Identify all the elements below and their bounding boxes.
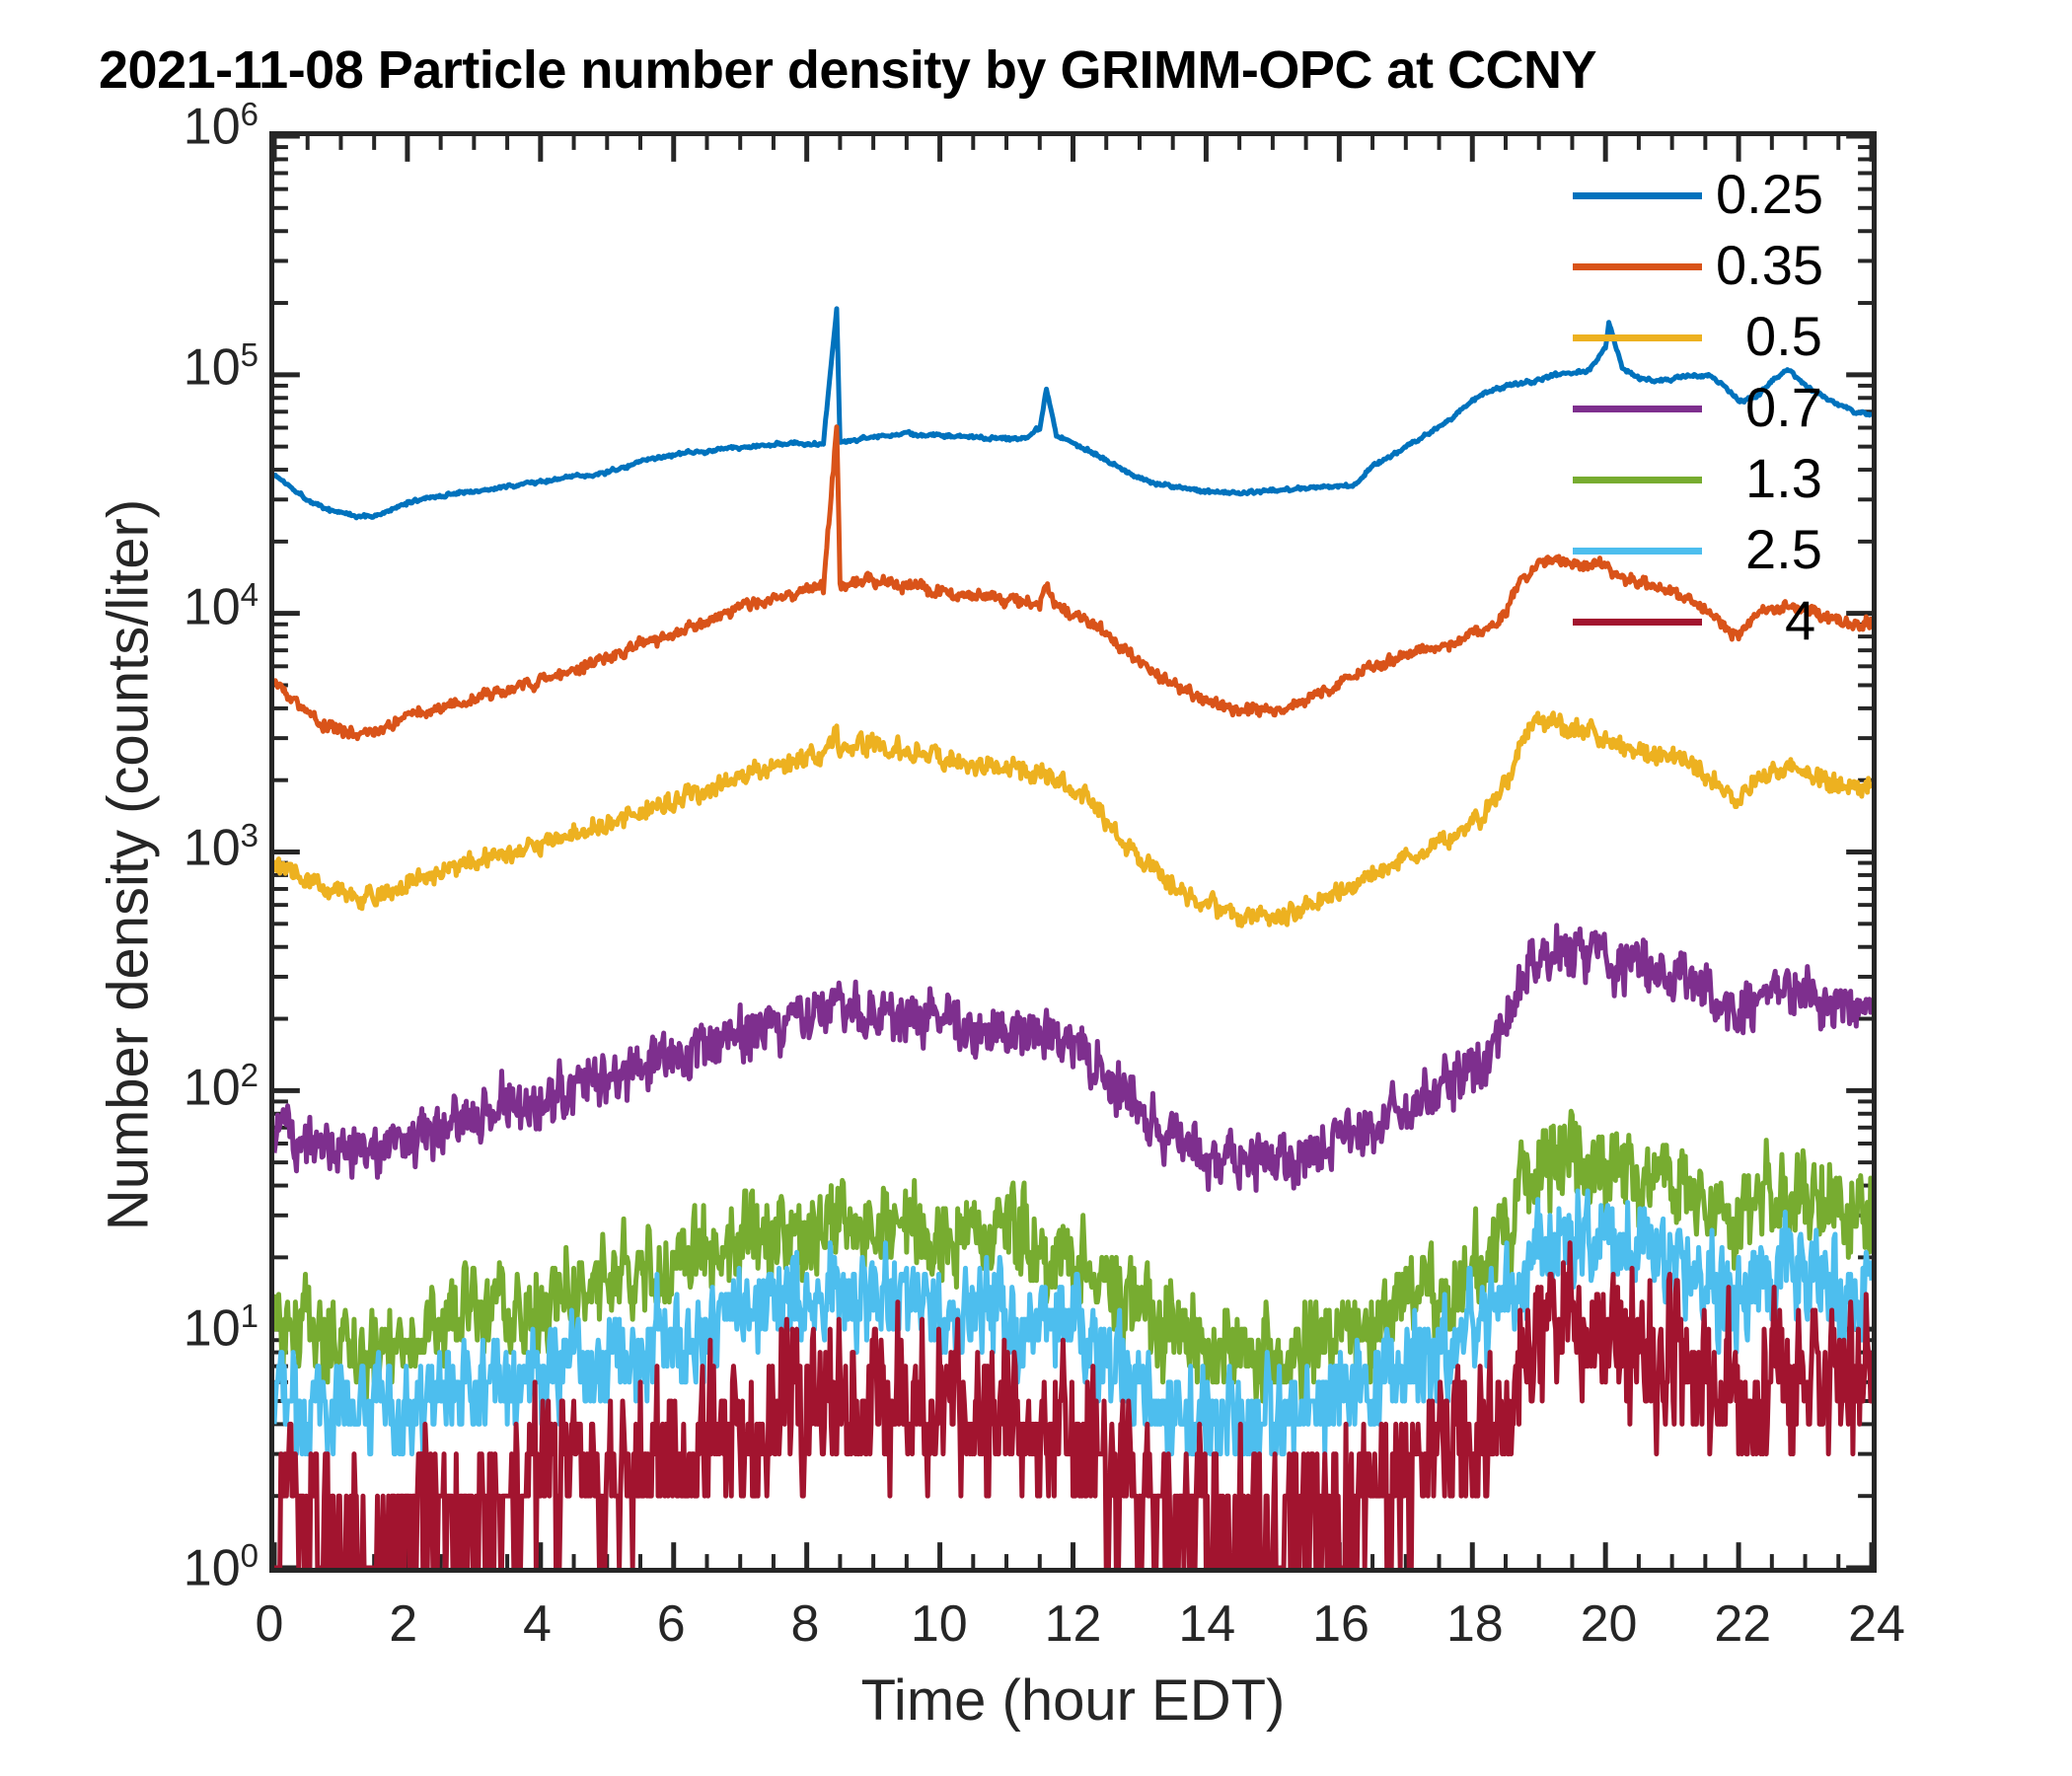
legend-label: 4: [1785, 585, 1815, 656]
x-axis-title: Time (hour EDT): [269, 1667, 1877, 1734]
legend-label: 1.3: [1745, 443, 1822, 514]
legend-item[interactable]: 0.5: [1573, 301, 1898, 372]
y-axis-title: Number density (counts/liter): [96, 372, 162, 1359]
x-tick-label: 16: [1282, 1594, 1400, 1654]
x-tick-label: 2: [344, 1594, 463, 1654]
legend-color-swatch: [1573, 548, 1702, 555]
legend-item[interactable]: 4: [1573, 585, 1898, 656]
y-tick-label: 100: [184, 1537, 259, 1597]
legend-item[interactable]: 1.3: [1573, 443, 1898, 514]
x-tick-label: 0: [210, 1594, 329, 1654]
legend-label: 2.5: [1745, 514, 1822, 585]
x-tick-label: 14: [1147, 1594, 1266, 1654]
legend-label: 0.35: [1716, 230, 1823, 301]
legend-color-swatch: [1573, 406, 1702, 412]
y-tick-label: 106: [184, 96, 259, 156]
legend-item[interactable]: 0.7: [1573, 372, 1898, 443]
legend-color-swatch: [1573, 192, 1702, 199]
legend-color-swatch: [1573, 619, 1702, 626]
legend-item[interactable]: 0.25: [1573, 159, 1898, 230]
chart-page: 2021-11-08 Particle number density by GR…: [0, 0, 2072, 1776]
legend-label: 0.7: [1745, 372, 1822, 443]
y-tick-label: 103: [184, 817, 259, 877]
x-tick-label: 8: [746, 1594, 864, 1654]
x-tick-label: 12: [1014, 1594, 1133, 1654]
x-tick-label: 22: [1683, 1594, 1802, 1654]
y-tick-label: 104: [184, 576, 259, 636]
y-tick-label: 101: [184, 1297, 259, 1358]
x-tick-label: 10: [880, 1594, 999, 1654]
page-title: 2021-11-08 Particle number density by GR…: [99, 39, 2033, 101]
legend-color-swatch: [1573, 263, 1702, 270]
x-tick-label: 4: [479, 1594, 597, 1654]
legend-color-swatch: [1573, 477, 1702, 483]
x-tick-label: 6: [612, 1594, 730, 1654]
legend-label: 0.25: [1716, 159, 1823, 230]
series-line-0-5: [274, 713, 1872, 926]
legend-item[interactable]: 2.5: [1573, 514, 1898, 585]
legend: 0.250.350.50.71.32.54: [1573, 131, 1898, 546]
y-tick-label: 105: [184, 336, 259, 397]
x-tick-label: 18: [1416, 1594, 1534, 1654]
y-tick-label: 102: [184, 1057, 259, 1117]
legend-color-swatch: [1573, 334, 1702, 341]
x-tick-label: 24: [1817, 1594, 1936, 1654]
x-tick-label: 20: [1550, 1594, 1668, 1654]
legend-item[interactable]: 0.35: [1573, 230, 1898, 301]
legend-label: 0.5: [1745, 301, 1822, 372]
